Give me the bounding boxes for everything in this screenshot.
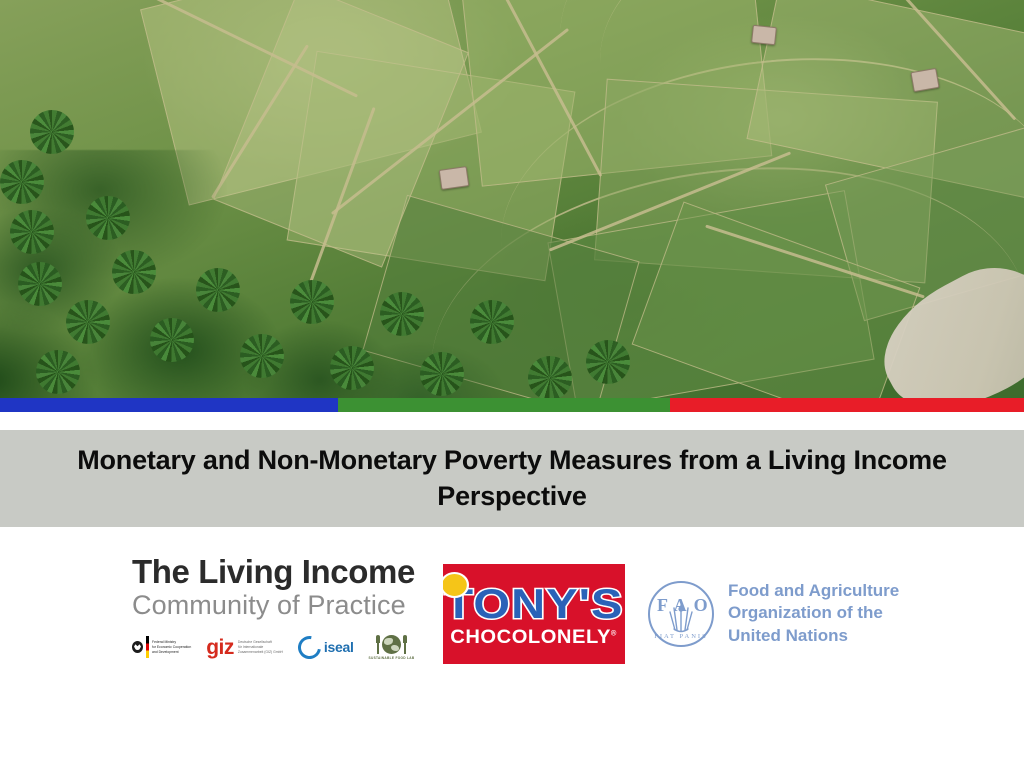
title-band: Monetary and Non-Monetary Poverty Measur… (0, 430, 1024, 527)
hero-image (0, 0, 1024, 400)
registered-mark: ® (611, 630, 617, 637)
spoon-icon (403, 635, 407, 654)
giz-logo-text: Deutsche Gesellschaftfür InternationaleZ… (238, 640, 283, 655)
tonys-chocolonely-logo: TONY'S CHOCOLONELY® (443, 564, 625, 664)
iseal-ring-icon (293, 631, 325, 663)
palm-tree (420, 352, 464, 396)
page-title: Monetary and Non-Monetary Poverty Measur… (62, 443, 962, 514)
iseal-logo: iseal (298, 636, 354, 659)
german-eagle-icon (132, 641, 143, 653)
logo-row: The Living Income Community of Practice … (0, 527, 1024, 687)
fao-name-line2: Organization of the (728, 602, 899, 624)
farm-hut (439, 166, 470, 190)
accent-bar (0, 398, 1024, 412)
palm-tree (290, 280, 334, 324)
palm-tree (30, 110, 74, 154)
palm-tree (380, 292, 424, 336)
accent-bar-red (670, 398, 1024, 412)
bmz-logo: Federal Ministryfor Economic Cooperation… (132, 636, 191, 658)
sustainable-food-lab-logo: SUSTAINABLE FOOD LAB (369, 634, 415, 660)
living-income-cop-logo: The Living Income Community of Practice … (132, 555, 432, 662)
fork-icon (376, 635, 380, 654)
partner-logo-row: Federal Ministryfor Economic Cooperation… (132, 632, 432, 662)
accent-bar-blue (0, 398, 338, 412)
palm-tree (528, 356, 572, 400)
giz-wordmark: giz (206, 637, 234, 658)
palm-tree (470, 300, 514, 344)
palm-tree (10, 210, 54, 254)
giz-logo: giz Deutsche Gesellschaftfür Internation… (206, 637, 283, 658)
palm-tree (0, 160, 44, 204)
palm-tree (86, 196, 130, 240)
fao-motto: FIAT PANIS (650, 633, 712, 640)
wheat-sheaf-icon (668, 603, 694, 633)
palm-tree (330, 346, 374, 390)
farm-hut (751, 25, 777, 45)
globe-icon (382, 635, 401, 654)
fao-name-line3: United Nations (728, 625, 899, 647)
palm-tree (196, 268, 240, 312)
fao-name-line1: Food and Agriculture (728, 580, 899, 602)
fao-emblem-icon: FAO FIAT PANIS (648, 581, 714, 647)
chocolonely-text: CHOCOLONELY (451, 627, 612, 648)
fao-logo: FAO FIAT PANIS Food and Agriculture (648, 580, 899, 647)
sustainable-food-lab-text: SUSTAINABLE FOOD LAB (369, 656, 415, 660)
german-flag-icon (146, 636, 149, 658)
palm-tree (586, 340, 630, 384)
palm-tree (112, 250, 156, 294)
tonys-wordmark: TONY'S (444, 585, 623, 624)
chocolonely-wordmark: CHOCOLONELY® (451, 627, 618, 649)
accent-bar-green (338, 398, 670, 412)
community-of-practice-subtitle: Community of Practice (132, 590, 432, 620)
tonys-wordmark-text: TONY'S (444, 580, 623, 627)
bmz-logo-text: Federal Ministryfor Economic Cooperation… (152, 640, 191, 655)
palm-tree (36, 350, 80, 394)
palm-tree (150, 318, 194, 362)
palm-tree (240, 334, 284, 378)
living-income-title: The Living Income (132, 555, 432, 590)
fork-globe-spoon-icon (376, 634, 407, 655)
iseal-wordmark: iseal (324, 639, 354, 655)
palm-tree (18, 262, 62, 306)
fao-organization-name: Food and Agriculture Organization of the… (728, 580, 899, 647)
title-slide: Monetary and Non-Monetary Poverty Measur… (0, 0, 1024, 768)
palm-tree (66, 300, 110, 344)
aerial-rice-terraces-photo (0, 0, 1024, 400)
